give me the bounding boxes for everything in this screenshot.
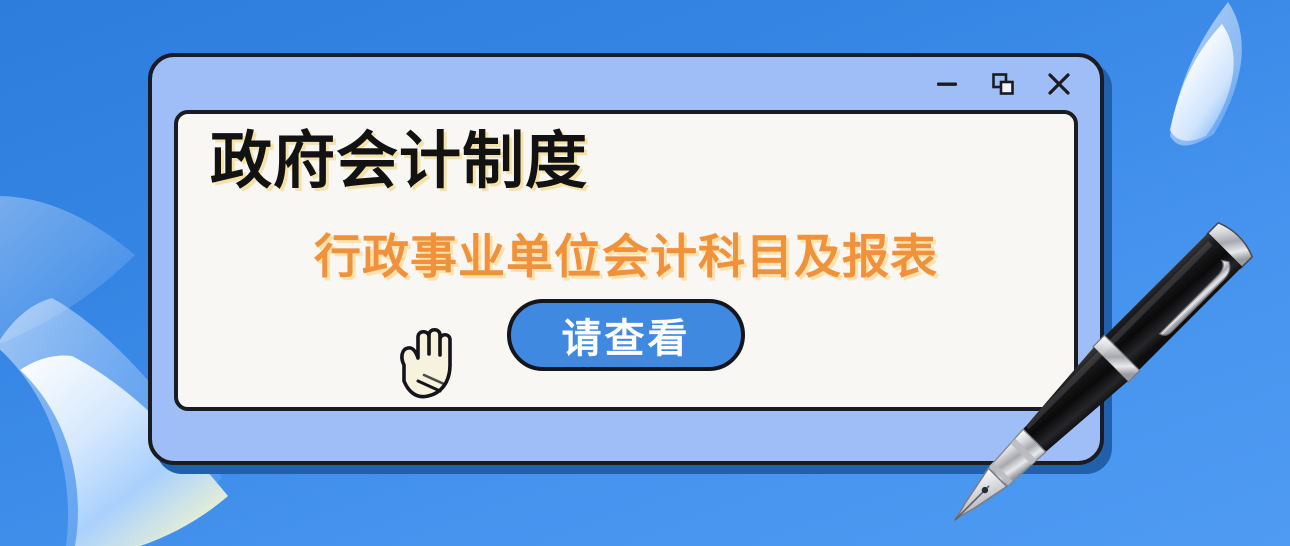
paper-ribbon-bottom-left-back	[0, 170, 150, 370]
page-title: 政府会计制度	[210, 128, 588, 196]
minimize-icon[interactable]	[932, 69, 962, 99]
cta-container: 请查看	[178, 299, 1074, 371]
paper-ribbon-top-right	[1130, 0, 1290, 184]
app-window: 政府会计制度 行政事业单位会计科目及报表 请查看	[148, 53, 1104, 465]
content-panel: 政府会计制度 行政事业单位会计科目及报表 请查看	[174, 110, 1078, 411]
poster-canvas: 政府会计制度 行政事业单位会计科目及报表 请查看	[0, 0, 1290, 546]
page-subtitle: 行政事业单位会计科目及报表	[178, 218, 1074, 287]
window-titlebar	[152, 57, 1100, 110]
hand-pointer-cursor-icon	[388, 321, 464, 403]
close-icon[interactable]	[1044, 69, 1074, 99]
restore-icon[interactable]	[988, 69, 1018, 99]
view-button[interactable]: 请查看	[507, 299, 745, 371]
